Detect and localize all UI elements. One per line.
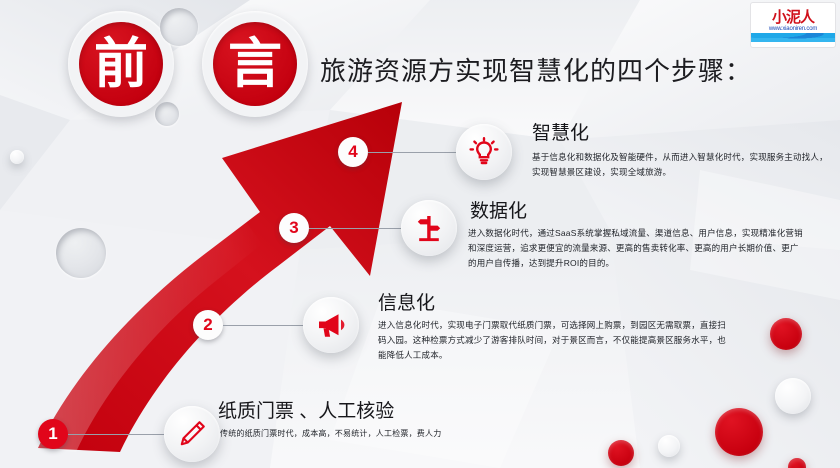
- step-leader-2: [223, 325, 303, 326]
- decor-ball-hole-topleft: [56, 228, 106, 278]
- step-heading-4: 智慧化: [532, 118, 589, 145]
- step-leader-4: [368, 152, 456, 153]
- step-body-3: 进入数据化时代，通过SaaS系统掌握私域流量、渠道信息、用户信息，实现精准化营销…: [468, 226, 806, 271]
- signpost-icon: [413, 212, 445, 244]
- decor-ball-white-right-2: [658, 435, 680, 457]
- title-badge-1: 前: [68, 11, 174, 117]
- step-leader-1: [68, 434, 164, 435]
- decor-ball-hole-top: [160, 8, 198, 46]
- logo-name: 小泥人: [772, 10, 814, 25]
- step-number-1[interactable]: 1: [38, 419, 68, 449]
- title-badge-2-label: 言: [213, 22, 297, 106]
- step-number-2[interactable]: 2: [193, 310, 223, 340]
- logo-wave-icon: [751, 33, 835, 42]
- step-number-4[interactable]: 4: [338, 137, 368, 167]
- step-heading-3: 数据化: [470, 196, 527, 223]
- step-icon-2[interactable]: [303, 297, 359, 353]
- step-body-4: 基于信息化和数据化及智能硬件，从而进入智慧化时代，实现服务主动找人，实现智慧景区…: [532, 150, 832, 180]
- step-number-3[interactable]: 3: [279, 213, 309, 243]
- decor-ball-red-bottom: [608, 440, 634, 466]
- step-icon-3[interactable]: [401, 200, 457, 256]
- lightbulb-icon: [467, 135, 501, 169]
- decor-ball-white-left: [10, 150, 24, 164]
- logo-mark: 小泥人: [772, 9, 814, 26]
- page-title: 旅游资源方实现智慧化的四个步骤：: [320, 51, 752, 88]
- decor-ball-hole-mid: [155, 102, 179, 126]
- title-badge-1-label: 前: [79, 22, 163, 106]
- step-heading-1: 纸质门票 、人工核验: [218, 396, 394, 423]
- step-icon-4[interactable]: [456, 124, 512, 180]
- step-body-1: 传统的纸质门票时代，成本高，不易统计，人工检票，费人力: [220, 427, 550, 440]
- pencil-icon: [176, 418, 208, 450]
- decor-ball-white-right-1: [775, 378, 811, 414]
- step-body-2: 进入信息化时代，实现电子门票取代纸质门票，可选择网上购票，到园区无需取票，直接扫…: [378, 318, 730, 363]
- step-icon-1[interactable]: [164, 406, 220, 462]
- decor-ball-red-right-2: [715, 408, 763, 456]
- slide-canvas: 前 言 旅游资源方实现智慧化的四个步骤： 小泥人 www.xiaoniren.c…: [0, 0, 840, 468]
- decor-ball-red-right-1: [770, 318, 802, 350]
- megaphone-icon: [315, 310, 347, 340]
- title-badge-2: 言: [202, 11, 308, 117]
- decor-ball-red-right-3: [788, 458, 806, 468]
- brand-logo: 小泥人 www.xiaoniren.com: [750, 2, 836, 48]
- step-heading-2: 信息化: [378, 288, 435, 315]
- logo-url: www.xiaoniren.com: [769, 26, 817, 33]
- step-leader-3: [309, 228, 401, 229]
